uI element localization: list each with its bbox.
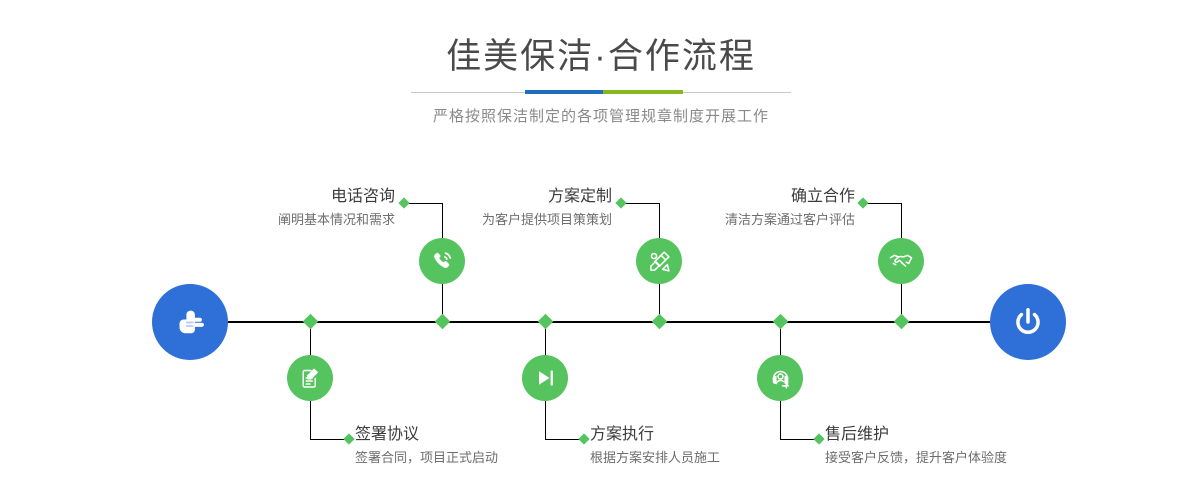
step-label-4: 方案执行 根据方案安排人员施工 [590, 424, 840, 468]
step-node-2[interactable] [287, 355, 333, 401]
power-icon [1007, 301, 1049, 343]
step-title-1: 电话咨询 [150, 186, 395, 208]
step-desc-3: 为客户提供项目策策划 [370, 210, 612, 230]
timeline-marker-2 [303, 314, 319, 330]
connector-tip-5 [857, 197, 868, 208]
step-desc-6: 接受客户反馈，提升客户体验度 [825, 448, 1085, 468]
step-node-6[interactable] [757, 355, 803, 401]
step-title-4: 方案执行 [590, 424, 840, 446]
step-label-2: 签署协议 签署合同，项目正式启动 [355, 424, 605, 468]
timeline-marker-1 [435, 314, 451, 330]
document-pencil-icon [298, 366, 322, 390]
step-node-5[interactable] [878, 238, 924, 284]
timeline: 电话咨询 阐明基本情况和需求 签署协议 签署合同，项目正式启动 [0, 0, 1202, 502]
timeline-start-node[interactable] [152, 284, 228, 360]
step-desc-1: 阐明基本情况和需求 [150, 210, 395, 230]
step-title-2: 签署协议 [355, 424, 605, 446]
step-title-5: 确立合作 [610, 186, 855, 208]
timeline-marker-5 [894, 314, 910, 330]
timeline-marker-6 [773, 314, 789, 330]
phone-ring-icon [429, 248, 455, 274]
step-node-3[interactable] [636, 238, 682, 284]
timeline-marker-4 [538, 314, 554, 330]
step-node-1[interactable] [419, 238, 465, 284]
step-node-4[interactable] [522, 355, 568, 401]
connector-horizontal-5 [863, 203, 902, 204]
step-label-5: 确立合作 清洁方案通过客户评估 [610, 186, 855, 230]
timeline-marker-3 [652, 314, 668, 330]
step-label-3: 方案定制 为客户提供项目策策划 [370, 186, 612, 230]
pointing-hand-icon [169, 301, 211, 343]
step-desc-2: 签署合同，项目正式启动 [355, 448, 605, 468]
headset-support-icon [768, 366, 793, 391]
timeline-end-node[interactable] [990, 284, 1066, 360]
step-label-6: 售后维护 接受客户反馈，提升客户体验度 [825, 424, 1085, 468]
pencil-ruler-icon [647, 249, 672, 274]
step-title-6: 售后维护 [825, 424, 1085, 446]
step-desc-5: 清洁方案通过客户评估 [610, 210, 855, 230]
connector-tip-2 [343, 433, 354, 444]
process-flow-page: 佳美保洁·合作流程 严格按照保洁制定的各项管理规章制度开展工作 [0, 0, 1202, 502]
play-forward-icon [533, 366, 557, 390]
handshake-icon [888, 248, 914, 274]
step-label-1: 电话咨询 阐明基本情况和需求 [150, 186, 395, 230]
step-desc-4: 根据方案安排人员施工 [590, 448, 840, 468]
